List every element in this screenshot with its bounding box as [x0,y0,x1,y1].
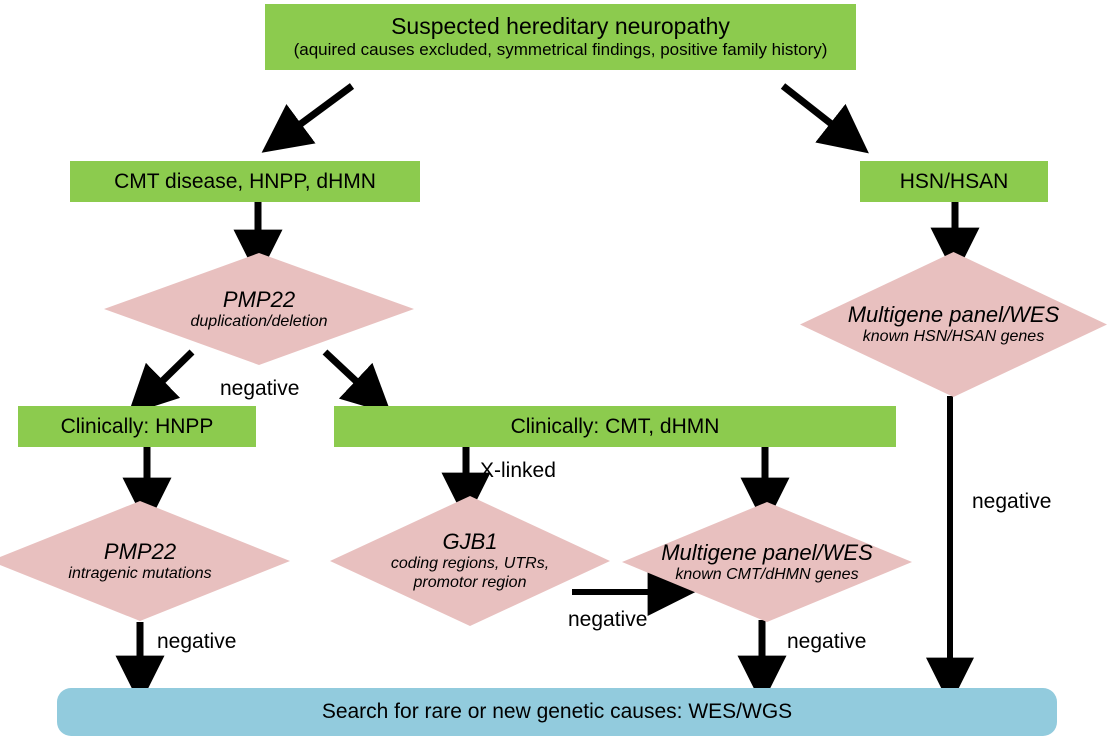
pmp22-dupdel-line1: PMP22 [223,287,295,313]
node-search-rare-new-genetic-causes[interactable]: Search for rare or new genetic causes: W… [57,688,1057,736]
node-multigene-panel-wes-hsn[interactable]: Multigene panel/WES known HSN/HSAN genes [800,252,1107,397]
edge-label-gjb1-negative: negative [568,608,647,632]
edge-label-multigene-cmt-negative: negative [787,630,866,654]
final-label: Search for rare or new genetic causes: W… [322,700,792,723]
node-multigene-panel-wes-cmt[interactable]: Multigene panel/WES known CMT/dHMN genes [622,502,912,622]
gjb1-line3: promotor region [414,574,527,593]
edge-label-multigene-hsn-negative: negative [972,490,1051,514]
flowchart-canvas: Suspected hereditary neuropathy (aquired… [0,0,1107,743]
edge-label-x-linked: X-linked [480,459,556,483]
gjb1-line2: coding regions, UTRs, [391,555,549,574]
node-pmp22-duplication-deletion[interactable]: PMP22 duplication/deletion [104,253,414,365]
node-pmp22-intragenic-mutations[interactable]: PMP22 intragenic mutations [0,501,290,621]
arrow-root-to-cmt [283,86,352,137]
multigene-hsn-line1: Multigene panel/WES [848,302,1060,328]
node-gjb1[interactable]: GJB1 coding regions, UTRs, promotor regi… [330,496,610,626]
node-cmt-disease-hnpp-dhmn[interactable]: CMT disease, HNPP, dHMN [70,161,420,202]
hsn-group-label: HSN/HSAN [900,170,1009,193]
diamond-text: Multigene panel/WES known HSN/HSAN genes [800,252,1107,397]
diamond-text: PMP22 duplication/deletion [104,253,414,365]
node-clinically-hnpp[interactable]: Clinically: HNPP [18,406,256,447]
diamond-text: Multigene panel/WES known CMT/dHMN genes [622,502,912,622]
multigene-hsn-line2: known HSN/HSAN genes [863,328,1044,347]
arrow-root-to-hsn [783,86,848,137]
diamond-text: PMP22 intragenic mutations [0,501,290,621]
gjb1-line1: GJB1 [442,529,497,555]
edge-label-pmp22-intragenic-negative: negative [157,630,236,654]
root-title-line: Suspected hereditary neuropathy [391,14,730,40]
node-hsn-hsan[interactable]: HSN/HSAN [860,161,1048,202]
multigene-cmt-line2: known CMT/dHMN genes [675,566,858,585]
cmt-group-label: CMT disease, HNPP, dHMN [114,170,376,193]
pmp22-intragenic-line2: intragenic mutations [68,565,211,584]
clinically-hnpp-label: Clinically: HNPP [61,415,214,438]
multigene-cmt-line1: Multigene panel/WES [661,540,873,566]
node-clinically-cmt-dhmn[interactable]: Clinically: CMT, dHMN [334,406,896,447]
root-subtitle-line: (aquired causes excluded, symmetrical fi… [294,40,828,59]
node-suspected-hereditary-neuropathy[interactable]: Suspected hereditary neuropathy (aquired… [265,4,856,70]
clinically-cmt-label: Clinically: CMT, dHMN [511,415,720,438]
pmp22-dupdel-line2: duplication/deletion [191,313,328,332]
pmp22-intragenic-line1: PMP22 [104,539,176,565]
edge-label-pmp22-negative: negative [220,377,299,401]
diamond-text: GJB1 coding regions, UTRs, promotor regi… [330,496,610,626]
